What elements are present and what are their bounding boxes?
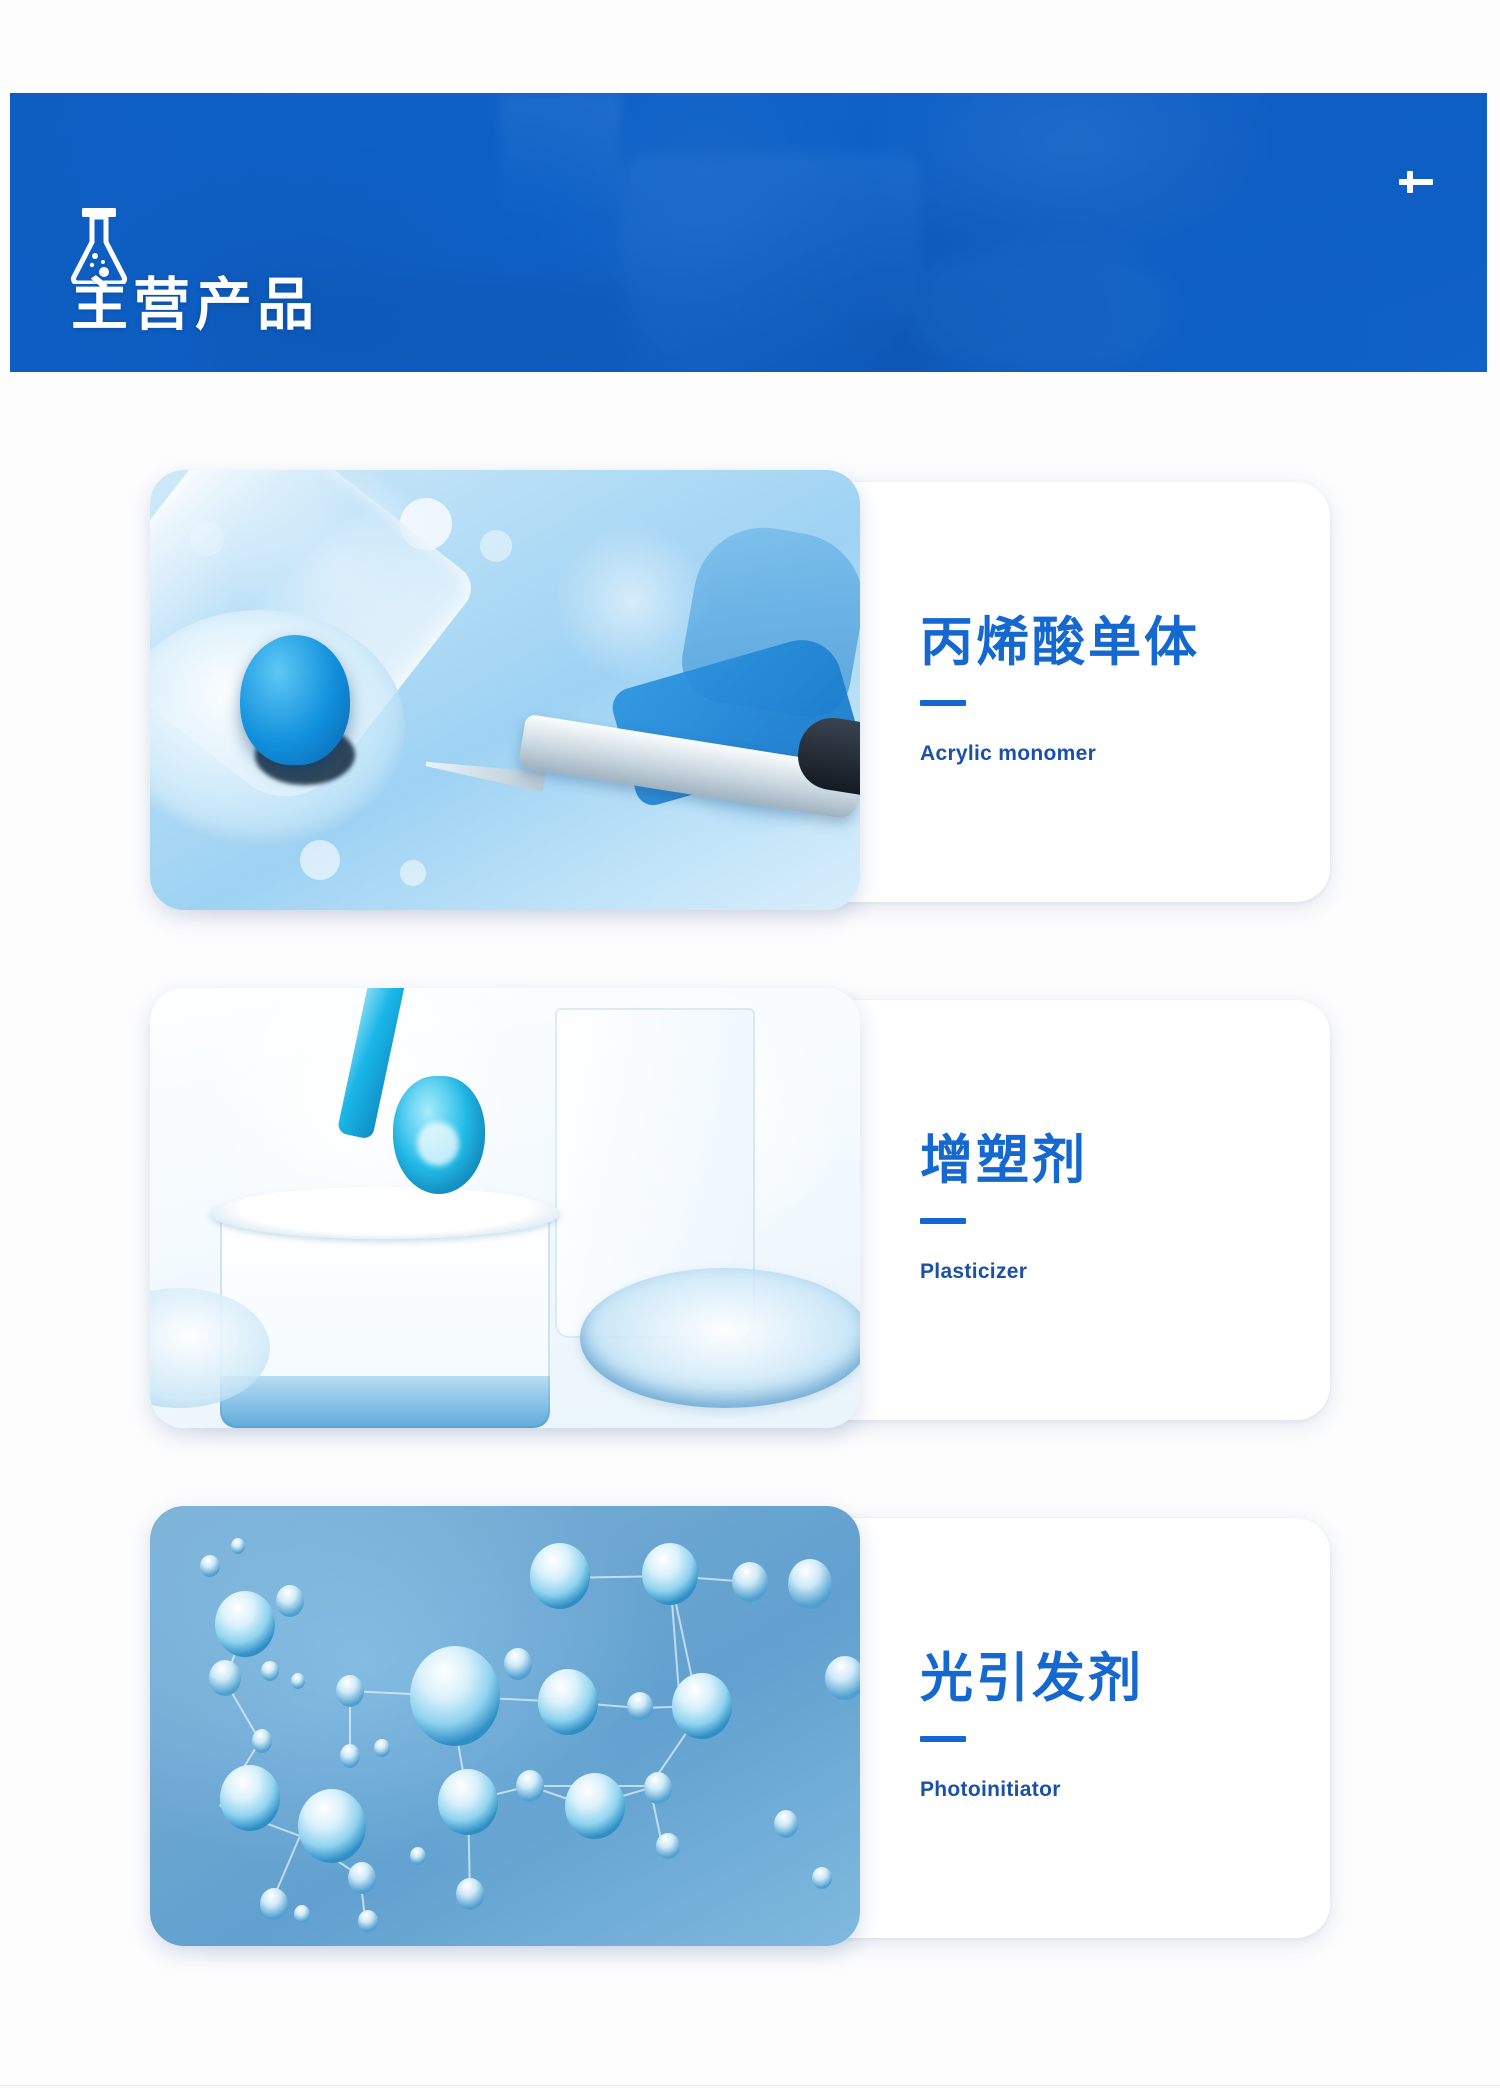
molecule-photo <box>150 1506 860 1946</box>
title-divider <box>920 700 966 706</box>
page-header-banner: 主营产品 <box>10 93 1487 372</box>
product-title-en: Plasticizer <box>920 1260 1320 1284</box>
plus-icon-horizontal-bar <box>1399 179 1433 185</box>
product-image-acrylic-monomer <box>150 470 860 910</box>
product-title-cn: 增塑剂 <box>920 1132 1320 1190</box>
product-card[interactable]: 增塑剂 Plasticizer <box>150 988 1330 1428</box>
plus-icon-vertical-bar <box>1407 171 1413 193</box>
product-card[interactable]: 丙烯酸单体 Acrylic monomer <box>150 470 1330 910</box>
product-title-en: Acrylic monomer <box>920 742 1320 766</box>
product-title-en: Photoinitiator <box>920 1778 1320 1802</box>
molecule-diagram <box>150 1506 860 1946</box>
product-image-plasticizer <box>150 988 860 1428</box>
product-card[interactable]: 光引发剂 Photoinitiator <box>150 1506 1330 1946</box>
product-image-photoinitiator <box>150 1506 860 1946</box>
footer-divider <box>0 2085 1500 2086</box>
page-title: 主营产品 <box>71 275 319 337</box>
title-divider <box>920 1218 966 1224</box>
beaker-photo <box>150 988 860 1428</box>
product-card-text: 增塑剂 Plasticizer <box>920 988 1320 1428</box>
product-title-cn: 丙烯酸单体 <box>920 614 1320 672</box>
product-card-list: 丙烯酸单体 Acrylic monomer 增塑剂 <box>0 470 1500 2024</box>
add-product-button[interactable] <box>1393 159 1439 205</box>
product-card-text: 光引发剂 Photoinitiator <box>920 1506 1320 1946</box>
product-showcase-page: 主营产品 <box>0 0 1500 2088</box>
title-divider <box>920 1736 966 1742</box>
product-title-cn: 光引发剂 <box>920 1650 1320 1708</box>
pipette-photo <box>150 470 860 910</box>
product-card-text: 丙烯酸单体 Acrylic monomer <box>920 470 1320 910</box>
